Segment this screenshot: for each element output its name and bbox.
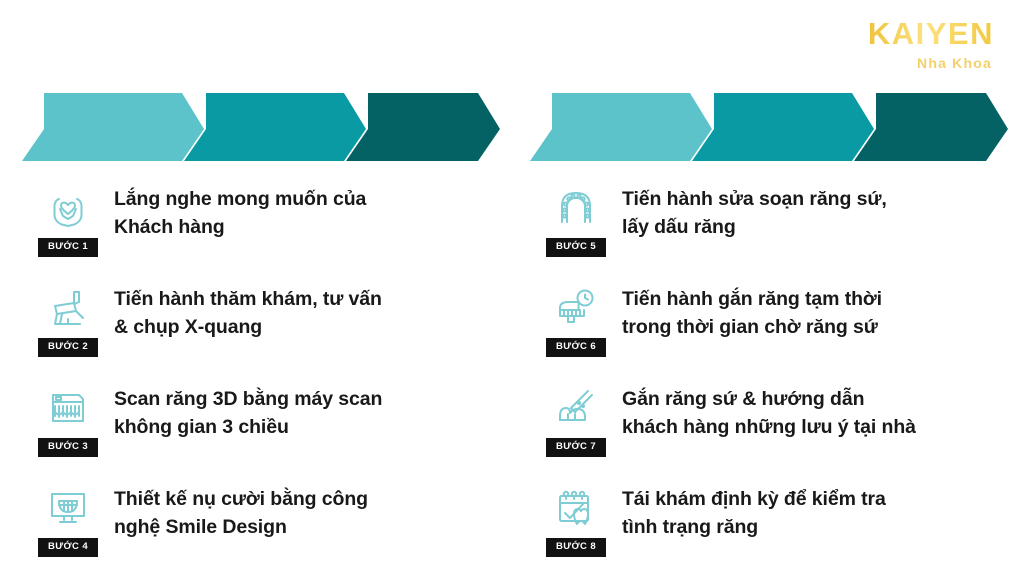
brand-name: KAIYEN bbox=[868, 18, 994, 49]
step-icon-group: BƯỚC 8 bbox=[530, 482, 622, 570]
step-icon-group: BƯỚC 2 bbox=[22, 282, 114, 370]
infographic-page: KAIYEN Nha Khoa bbox=[0, 0, 1024, 575]
step-text: Tiến hành sửa soạn răng sứ, lấy dấu răng bbox=[622, 182, 1008, 241]
step-line: trong thời gian chờ răng sứ bbox=[622, 316, 878, 338]
brand-tagline: Nha Khoa bbox=[868, 56, 992, 70]
tweezers-crown-icon bbox=[548, 382, 604, 434]
step-text: Tiến hành gắn răng tạm thời trong thời g… bbox=[622, 282, 1008, 341]
step-badge: BƯỚC 7 bbox=[546, 438, 606, 457]
column-left: BƯỚC 1 Lắng nghe mong muốn của Khách hàn… bbox=[22, 85, 500, 575]
step-badge: BƯỚC 1 bbox=[38, 238, 98, 257]
step-text: Lắng nghe mong muốn của Khách hàng bbox=[114, 182, 500, 241]
dental-arch-icon bbox=[548, 182, 604, 234]
dental-chair-icon bbox=[40, 282, 96, 334]
teeth-clock-icon bbox=[548, 282, 604, 334]
step-line: Lắng nghe mong muốn của bbox=[114, 188, 366, 210]
monitor-smile-icon bbox=[40, 482, 96, 534]
step-badge: BƯỚC 8 bbox=[546, 538, 606, 557]
chevron-segment-light bbox=[530, 93, 712, 161]
step-line: Tiến hành gắn răng tạm thời bbox=[622, 288, 882, 310]
step-text: Tiến hành thăm khám, tư vấn & chụp X-qua… bbox=[114, 282, 500, 341]
heart-in-hands-icon bbox=[40, 182, 96, 234]
step-line: Tiến hành thăm khám, tư vấn bbox=[114, 288, 382, 310]
step-line: Tiến hành sửa soạn răng sứ, bbox=[622, 188, 887, 210]
step-icon-group: BƯỚC 5 bbox=[530, 182, 622, 270]
calendar-check-tooth-icon bbox=[548, 482, 604, 534]
step-item: BƯỚC 7 Gắn răng sứ & hướng dẫn khách hàn… bbox=[530, 382, 1008, 482]
step-icon-group: BƯỚC 7 bbox=[530, 382, 622, 470]
step-line: Gắn răng sứ & hướng dẫn bbox=[622, 388, 864, 410]
step-text: Scan răng 3D bằng máy scan không gian 3 … bbox=[114, 382, 500, 441]
chevron-segment-dark bbox=[854, 93, 1008, 161]
chevron-segment-mid bbox=[184, 93, 366, 161]
column-right: BƯỚC 5 Tiến hành sửa soạn răng sứ, lấy d… bbox=[530, 85, 1008, 575]
chevron-segment-mid bbox=[692, 93, 874, 161]
step-line: khách hàng những lưu ý tại nhà bbox=[622, 416, 916, 438]
chevron-banner-left bbox=[22, 85, 500, 165]
step-line: Khách hàng bbox=[114, 216, 225, 238]
step-line: nghệ Smile Design bbox=[114, 516, 287, 538]
step-icon-group: BƯỚC 1 bbox=[22, 182, 114, 270]
step-list-left: BƯỚC 1 Lắng nghe mong muốn của Khách hàn… bbox=[22, 182, 500, 575]
step-icon-group: BƯỚC 6 bbox=[530, 282, 622, 370]
chevron-segment-light bbox=[22, 93, 204, 161]
step-line: Scan răng 3D bằng máy scan bbox=[114, 388, 382, 410]
chevron-segment-dark bbox=[346, 93, 500, 161]
step-line: & chụp X-quang bbox=[114, 316, 262, 338]
step-item: BƯỚC 8 Tái khám định kỳ để kiểm tra tình… bbox=[530, 482, 1008, 575]
brand-logo: KAIYEN Nha Khoa bbox=[868, 18, 994, 70]
chevron-banner-right bbox=[530, 85, 1008, 165]
step-list-right: BƯỚC 5 Tiến hành sửa soạn răng sứ, lấy d… bbox=[530, 182, 1008, 575]
step-badge: BƯỚC 4 bbox=[38, 538, 98, 557]
step-text: Gắn răng sứ & hướng dẫn khách hàng những… bbox=[622, 382, 1008, 441]
step-line: Thiết kế nụ cười bằng công bbox=[114, 488, 368, 510]
teeth-scanner-icon bbox=[40, 382, 96, 434]
step-line: lấy dấu răng bbox=[622, 216, 736, 238]
step-text: Tái khám định kỳ để kiểm tra tình trạng … bbox=[622, 482, 1008, 541]
step-line: tình trạng răng bbox=[622, 516, 758, 538]
step-item: BƯỚC 2 Tiến hành thăm khám, tư vấn & chụ… bbox=[22, 282, 500, 382]
step-text: Thiết kế nụ cười bằng công nghệ Smile De… bbox=[114, 482, 500, 541]
step-badge: BƯỚC 3 bbox=[38, 438, 98, 457]
step-badge: BƯỚC 5 bbox=[546, 238, 606, 257]
step-line: không gian 3 chiều bbox=[114, 416, 289, 438]
step-item: BƯỚC 4 Thiết kế nụ cười bằng công nghệ S… bbox=[22, 482, 500, 575]
step-item: BƯỚC 6 Tiến hành gắn răng tạm thời trong… bbox=[530, 282, 1008, 382]
step-item: BƯỚC 5 Tiến hành sửa soạn răng sứ, lấy d… bbox=[530, 182, 1008, 282]
step-badge: BƯỚC 2 bbox=[38, 338, 98, 357]
step-icon-group: BƯỚC 3 bbox=[22, 382, 114, 470]
step-item: BƯỚC 1 Lắng nghe mong muốn của Khách hàn… bbox=[22, 182, 500, 282]
step-icon-group: BƯỚC 4 bbox=[22, 482, 114, 570]
step-badge: BƯỚC 6 bbox=[546, 338, 606, 357]
steps-columns: BƯỚC 1 Lắng nghe mong muốn của Khách hàn… bbox=[0, 85, 1024, 575]
step-line: Tái khám định kỳ để kiểm tra bbox=[622, 488, 886, 510]
step-item: BƯỚC 3 Scan răng 3D bằng máy scan không … bbox=[22, 382, 500, 482]
